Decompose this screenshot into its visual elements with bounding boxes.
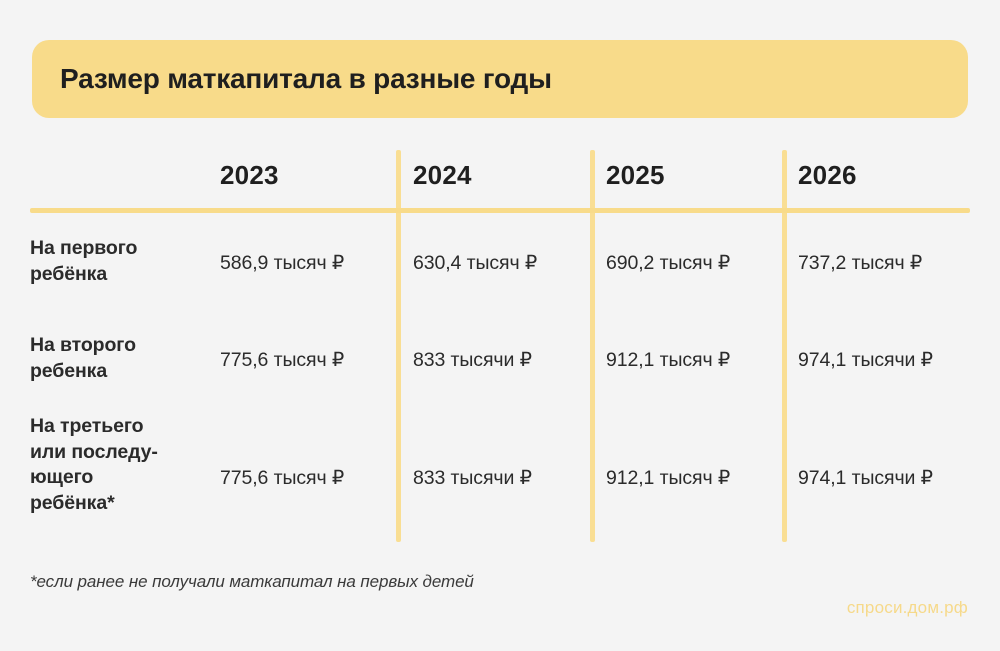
column-header-2023: 2023 xyxy=(220,160,279,191)
cell-third-child-2023: 775,6 тысяч ₽ xyxy=(220,466,344,490)
table-row: На первого ребёнка 586,9 тысяч ₽ 630,4 т… xyxy=(0,226,1000,312)
table-row: На второго ребенка 775,6 тысяч ₽ 833 тыс… xyxy=(0,323,1000,409)
header-underline xyxy=(30,208,970,213)
page-title: Размер маткапитала в разные годы xyxy=(60,63,552,95)
table-row: На третьего или последу- ющего ребёнка* … xyxy=(0,408,1000,548)
column-header-2024: 2024 xyxy=(413,160,472,191)
row-label-first-child: На первого ребёнка xyxy=(30,236,210,287)
cell-first-child-2023: 586,9 тысяч ₽ xyxy=(220,251,344,275)
cell-second-child-2023: 775,6 тысяч ₽ xyxy=(220,348,344,372)
cell-third-child-2026: 974,1 тысячи ₽ xyxy=(798,466,933,490)
cell-second-child-2025: 912,1 тысяч ₽ xyxy=(606,348,730,372)
column-header-2025: 2025 xyxy=(606,160,665,191)
header-banner: Размер маткапитала в разные годы xyxy=(32,40,968,118)
cell-first-child-2024: 630,4 тысяч ₽ xyxy=(413,251,537,275)
cell-third-child-2024: 833 тысячи ₽ xyxy=(413,466,532,490)
cell-first-child-2026: 737,2 тысяч ₽ xyxy=(798,251,922,275)
footnote: *если ранее не получали маткапитал на пе… xyxy=(30,572,474,592)
row-label-line: На третьего xyxy=(30,414,210,440)
row-label-line: или последу- xyxy=(30,440,210,466)
row-label-line: ребёнка* xyxy=(30,491,210,517)
row-label-third-child: На третьего или последу- ющего ребёнка* xyxy=(30,414,210,517)
brand-logo: спроси.дом.рф xyxy=(847,598,968,618)
cell-second-child-2026: 974,1 тысячи ₽ xyxy=(798,348,933,372)
column-header-2026: 2026 xyxy=(798,160,857,191)
row-label-second-child: На второго ребенка xyxy=(30,333,210,384)
table-header-row: 2023 2024 2025 2026 xyxy=(0,150,1000,208)
cell-second-child-2024: 833 тысячи ₽ xyxy=(413,348,532,372)
row-label-line: ющего xyxy=(30,465,210,491)
cell-first-child-2025: 690,2 тысяч ₽ xyxy=(606,251,730,275)
cell-third-child-2025: 912,1 тысяч ₽ xyxy=(606,466,730,490)
